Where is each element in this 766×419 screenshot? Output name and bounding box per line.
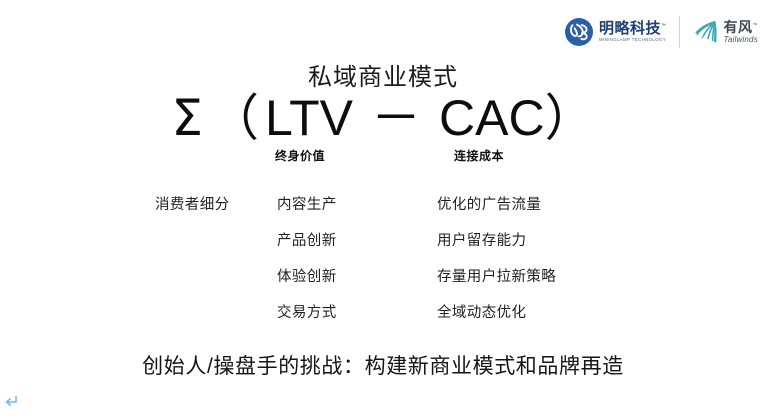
list-item: 全域动态优化 [437,304,556,340]
list-item: 存量用户拉新策略 [437,268,556,304]
mingluo-circle-mark-icon [564,17,594,47]
formula-paren-open: （ [209,90,259,146]
formula-label-ltv: 终身价值 [275,147,325,164]
slide-canvas: 明略科技™ MININGLAMP TECHNOLOGY [0,0,766,419]
tailwinds-trademark: ™ [753,22,759,28]
tailwinds-feather-mark-icon [692,18,720,46]
list-item: 内容生产 [277,196,337,232]
list-item: 消费者细分 [155,196,230,232]
mingluo-logo-text: 明略科技™ MININGLAMP TECHNOLOGY [599,21,667,42]
mingluo-logo: 明略科技™ MININGLAMP TECHNOLOGY [564,14,667,50]
logo-divider [679,16,680,48]
tailwinds-logo: 有风™ Tailwinds [692,14,759,50]
list-item: 产品创新 [277,232,337,268]
tailwinds-name-en: Tailwinds [724,36,759,44]
column-cac-drivers: 优化的广告流量 用户留存能力 存量用户拉新策略 全域动态优化 [437,196,556,340]
formula-term-cac: CAC [439,90,545,146]
logo-lockup: 明略科技™ MININGLAMP TECHNOLOGY [564,14,758,50]
formula-label-cac: 连接成本 [454,147,504,164]
formula-sigma: Σ [171,89,203,147]
formula-expression: Σ（LTV－CAC） [0,93,766,143]
formula-term-ltv: LTV [265,90,353,146]
list-item: 交易方式 [277,304,337,340]
footer-statement: 创始人/操盘手的挑战：构建新商业模式和品牌再造 [0,350,766,380]
page-title: 私域商业模式 [0,57,766,92]
paragraph-return-icon [4,394,18,408]
column-ltv-drivers: 内容生产 产品创新 体验创新 交易方式 [277,196,337,340]
mingluo-name-cn: 明略科技™ [599,21,667,36]
tailwinds-logo-text: 有风™ Tailwinds [724,20,759,44]
tailwinds-name-cn: 有风™ [724,20,759,34]
column-segments: 消费者细分 [155,196,230,232]
driver-columns: 消费者细分 内容生产 产品创新 体验创新 交易方式 优化的广告流量 用户留存能力… [0,196,766,326]
mingluo-trademark: ™ [661,23,667,29]
mingluo-name-en: MININGLAMP TECHNOLOGY [599,38,668,42]
list-item: 优化的广告流量 [437,196,556,232]
list-item: 体验创新 [277,268,337,304]
formula-operator-minus: － [371,89,421,147]
formula-paren-close: ） [545,90,595,146]
list-item: 用户留存能力 [437,232,556,268]
